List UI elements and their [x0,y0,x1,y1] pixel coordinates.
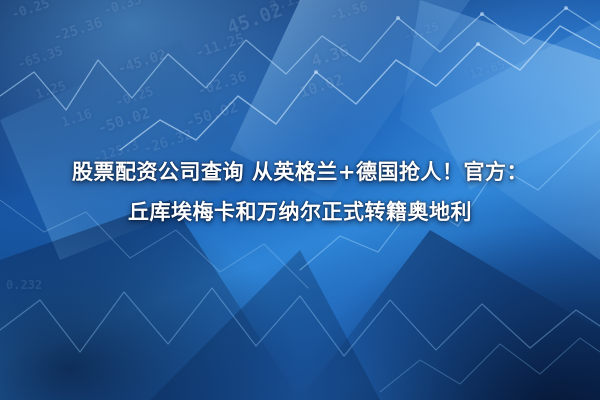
trace-markers [314,6,568,168]
news-thumbnail-image: -0.2545.02-1.562.13-0.35-25.36-11.254.36… [0,0,600,400]
headline-line-2: 丘库埃梅卡和万纳尔正式转籍奥地利 [26,192,574,232]
headline-line-1: 股票配资公司查询 从英格兰+德国抢人！官方： [26,152,574,192]
trace-upper-left [0,8,600,110]
trace-bottom-right-wave [380,338,600,392]
trace-center-peak [120,26,600,150]
trace-bottom-zigzag [0,288,600,356]
headline: 股票配资公司查询 从英格兰+德国抢人！官方： 丘库埃梅卡和万纳尔正式转籍奥地利 [0,152,600,232]
